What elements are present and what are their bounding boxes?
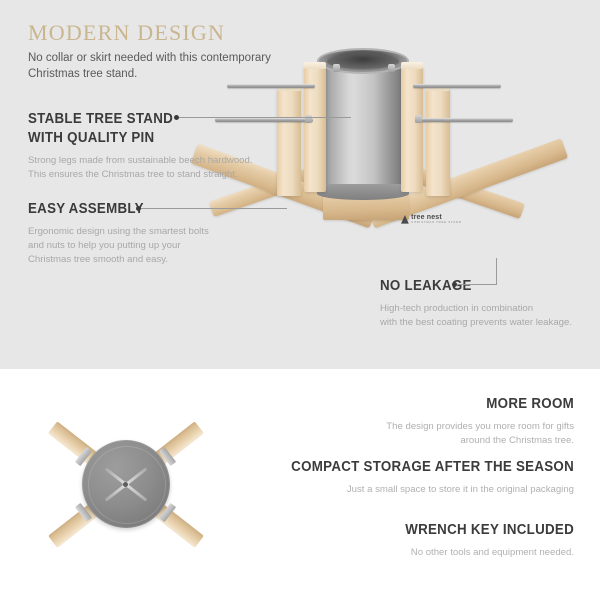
brand-logo: tree nest CHRISTMAS TREE STAND: [401, 214, 462, 225]
metal-cylinder-shading: [317, 60, 409, 195]
feature-body: Strong legs made from sustainable beech …: [28, 154, 288, 182]
feature-stable-tree-stand: STABLE TREE STAND WITH QUALITY PIN Stron…: [28, 110, 288, 182]
leader-line-leakage-horizontal: [457, 284, 497, 285]
inner-bolt-left: [333, 64, 340, 72]
feature-heading: EASY ASSEMBLY: [28, 200, 267, 219]
feature-body: No other tools and equipment needed.: [244, 546, 574, 560]
feature-wrench-key: WRENCH KEY INCLUDED No other tools and e…: [244, 521, 574, 560]
page-title: MODERN DESIGN: [28, 20, 225, 46]
infographic-page: tree nest CHRISTMAS TREE STAND MODERN DE…: [0, 0, 600, 600]
leader-line-leakage-vertical: [496, 258, 497, 285]
feature-easy-assembly: EASY ASSEMBLY Ergonomic design using the…: [28, 200, 288, 267]
feature-body: Ergonomic design using the smartest bolt…: [28, 225, 288, 267]
top-panel: tree nest CHRISTMAS TREE STAND MODERN DE…: [0, 0, 600, 369]
feature-more-room: MORE ROOM The design provides you more r…: [244, 395, 574, 448]
feature-body: The design provides you more room for gi…: [244, 420, 574, 448]
page-subtitle: No collar or skirt needed with this cont…: [28, 50, 271, 82]
feature-heading: MORE ROOM: [270, 395, 574, 414]
metal-cylinder-base: [317, 184, 409, 200]
feature-body: Just a small space to store it in the or…: [234, 483, 574, 497]
bolt-upper-left: [227, 84, 315, 88]
brand-tagline: CHRISTMAS TREE STAND: [411, 221, 461, 225]
product-image-flat-stand: [18, 379, 233, 589]
wood-post-left-cap: [304, 62, 326, 69]
feature-heading: WRENCH KEY INCLUDED: [270, 521, 574, 540]
brand-name: tree nest: [411, 214, 461, 221]
feature-heading: STABLE TREE STAND WITH QUALITY PIN: [28, 110, 267, 148]
wood-post-far-right: [426, 88, 450, 196]
metal-disc-center-pin: [123, 482, 128, 487]
feature-heading: COMPACT STORAGE AFTER THE SEASON: [261, 458, 574, 477]
inner-bolt-right: [388, 64, 395, 72]
feature-body: High-tech production in combination with…: [380, 302, 595, 330]
bolt-upper-right: [413, 84, 501, 88]
bottom-panel: MORE ROOM The design provides you more r…: [0, 369, 600, 600]
bolt-lower-right: [415, 118, 513, 122]
feature-compact-storage: COMPACT STORAGE AFTER THE SEASON Just a …: [234, 458, 574, 497]
wood-post-right-cap: [401, 62, 423, 69]
leader-line-easy: [141, 208, 287, 209]
leader-line-stable: [179, 117, 351, 118]
tree-icon: [401, 215, 409, 224]
feature-heading: NO LEAKAGE: [380, 277, 578, 296]
bolt-head-right: [415, 115, 422, 123]
